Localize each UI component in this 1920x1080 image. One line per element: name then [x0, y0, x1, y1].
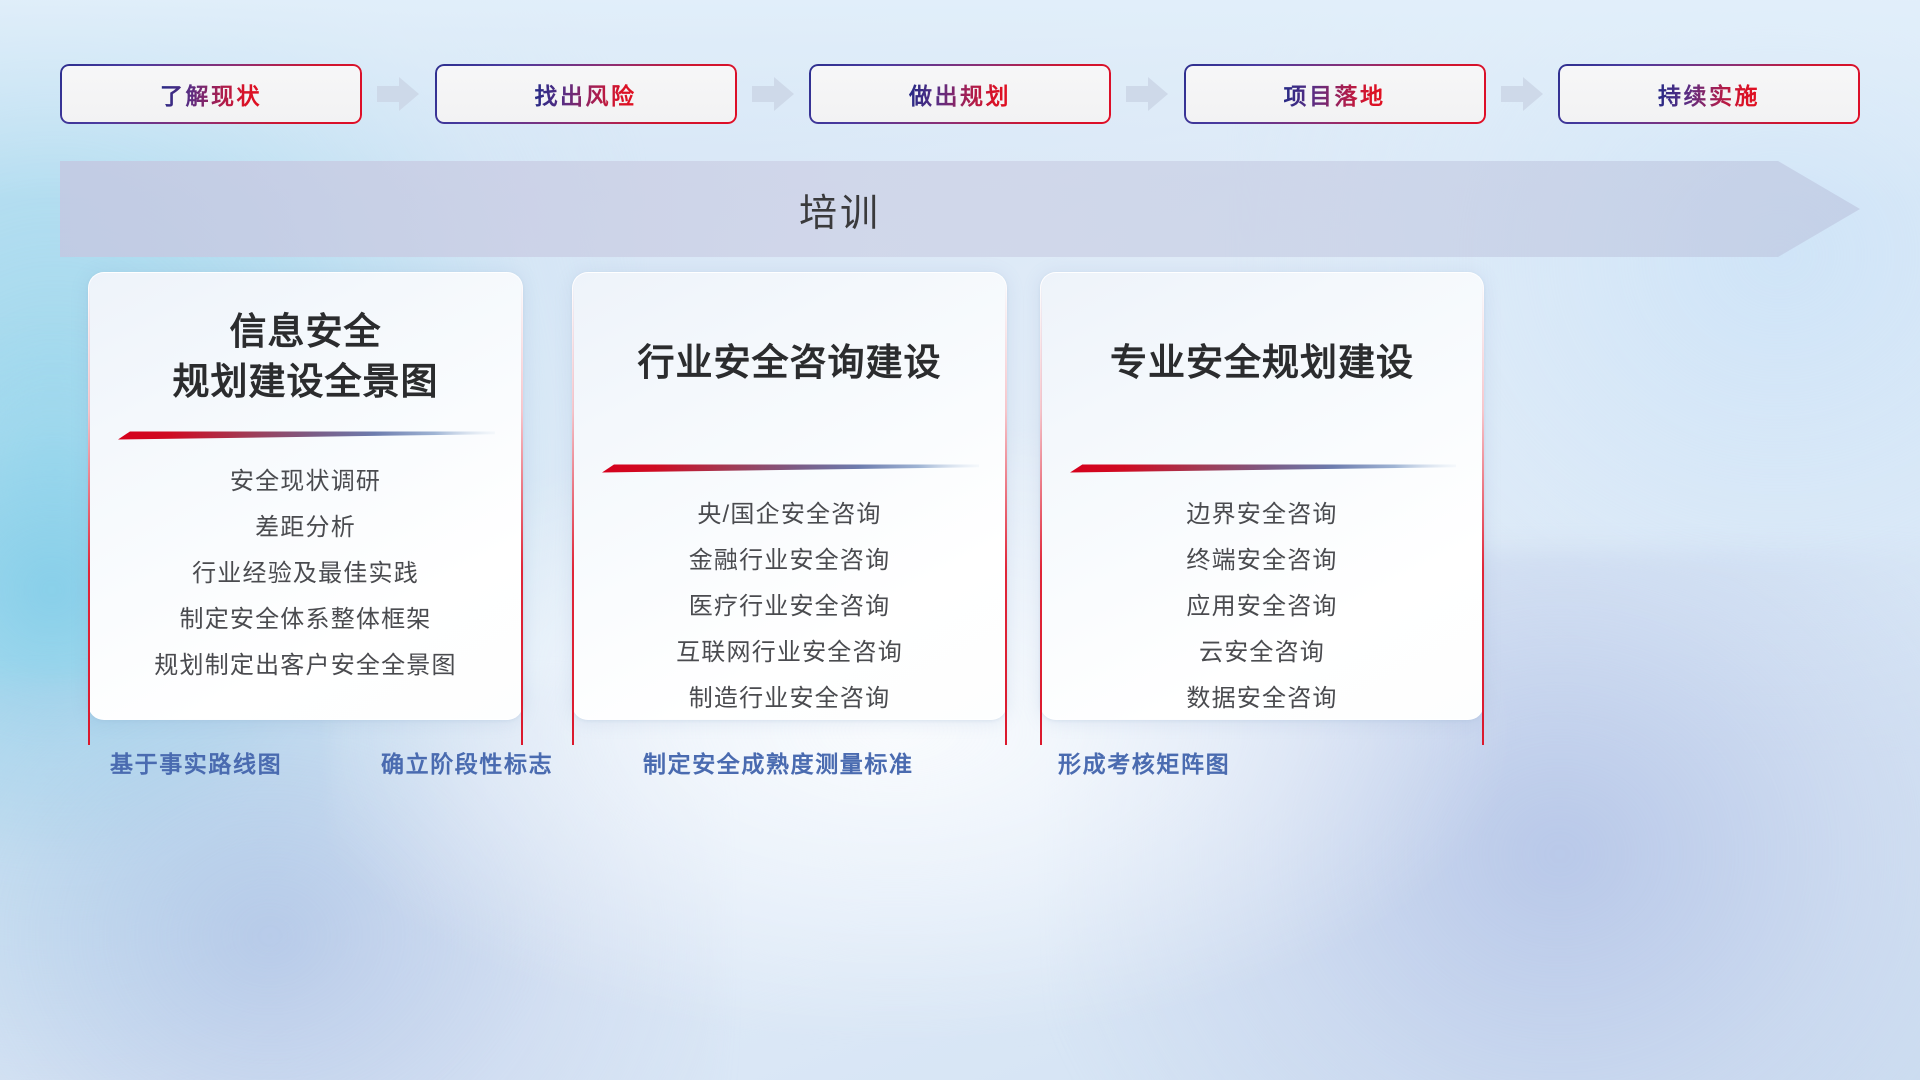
list-item: 金融行业安全咨询: [689, 543, 891, 579]
card-1-title: 行业安全咨询建设: [573, 307, 1006, 388]
step-chip-3[interactable]: 项目落地: [1184, 64, 1486, 124]
list-item: 差距分析: [255, 510, 356, 546]
step-label-3: 项目落地: [1284, 77, 1386, 111]
gradient-divider-glyph: [116, 428, 495, 442]
list-item: 终端安全咨询: [1186, 543, 1337, 579]
right-arrow-icon: [750, 76, 796, 112]
bottom-labels-row: 基于事实路线图 确立阶段性标志 制定安全成熟度测量标准 形成考核矩阵图: [0, 745, 1920, 791]
step-chip-2[interactable]: 做出规划: [809, 64, 1111, 124]
list-item: 制定安全体系整体框架: [180, 602, 432, 638]
card-2[interactable]: 专业安全规划建设: [1040, 272, 1484, 720]
list-item: 医疗行业安全咨询: [689, 589, 891, 625]
card-2-list: 边界安全咨询 终端安全咨询 应用安全咨询 云安全咨询 数据安全咨询: [1041, 497, 1483, 717]
bottom-label-1: 确立阶段性标志: [381, 745, 553, 779]
right-arrow-icon: [1499, 76, 1545, 112]
bottom-label-2: 制定安全成熟度测量标准: [643, 745, 914, 779]
card-2-title-line-0: 专业安全规划建设: [1041, 338, 1483, 388]
list-item: 边界安全咨询: [1186, 497, 1337, 533]
card-0-title-line-1: 规划建设全景图: [89, 357, 522, 407]
bottom-label-0: 基于事实路线图: [110, 745, 282, 779]
card-0-title: 信息安全 规划建设全景图: [89, 307, 522, 406]
right-arrow-icon: [1124, 76, 1170, 112]
card-0-list: 安全现状调研 差距分析 行业经验及最佳实践 制定安全体系整体框架 规划制定出客户…: [89, 464, 522, 684]
right-arrow-icon-glyph: [1501, 77, 1543, 111]
gradient-divider-glyph: [600, 461, 979, 475]
step-label-4: 持续实施: [1658, 77, 1760, 111]
step-chip-0[interactable]: 了解现状: [60, 64, 362, 124]
card-1-gradient-divider-icon: [600, 461, 979, 475]
list-item: 央/国企安全咨询: [697, 497, 881, 533]
right-arrow-icon-glyph: [1126, 77, 1168, 111]
training-banner-arrow: 培训: [60, 161, 1860, 257]
gradient-divider-glyph: [1068, 461, 1456, 475]
card-0[interactable]: 信息安全 规划建设全景图: [88, 272, 523, 720]
step-label-1: 找出风险: [535, 77, 637, 111]
card-1-title-line-0: 行业安全咨询建设: [573, 338, 1006, 388]
bottom-label-3: 形成考核矩阵图: [1058, 745, 1230, 779]
right-arrow-icon-glyph: [752, 77, 794, 111]
card-1[interactable]: 行业安全咨询建设: [572, 272, 1007, 720]
list-item: 互联网行业安全咨询: [676, 635, 903, 671]
list-item: 制造行业安全咨询: [689, 681, 891, 717]
list-item: 规划制定出客户安全全景图: [154, 648, 456, 684]
step-chip-4[interactable]: 持续实施: [1558, 64, 1860, 124]
card-2-title: 专业安全规划建设: [1041, 307, 1483, 388]
list-item: 行业经验及最佳实践: [192, 556, 419, 592]
right-arrow-icon-glyph: [377, 77, 419, 111]
list-item: 云安全咨询: [1199, 635, 1325, 671]
cards-row: 信息安全 规划建设全景图: [88, 272, 1848, 720]
list-item: 安全现状调研: [230, 464, 381, 500]
card-2-gradient-divider-icon: [1068, 461, 1456, 475]
process-steps-row: 了解现状 找出风险 做出规划 项目落地 持续实施: [60, 64, 1860, 124]
step-label-0: 了解现状: [160, 77, 262, 111]
step-chip-1[interactable]: 找出风险: [435, 64, 737, 124]
card-1-list: 央/国企安全咨询 金融行业安全咨询 医疗行业安全咨询 互联网行业安全咨询 制造行…: [573, 497, 1006, 717]
list-item: 数据安全咨询: [1186, 681, 1337, 717]
banner-title: 培训: [60, 161, 1620, 257]
card-0-gradient-divider-icon: [116, 428, 495, 442]
card-0-title-line-0: 信息安全: [89, 307, 522, 357]
step-label-2: 做出规划: [909, 77, 1011, 111]
right-arrow-icon: [375, 76, 421, 112]
list-item: 应用安全咨询: [1186, 589, 1337, 625]
